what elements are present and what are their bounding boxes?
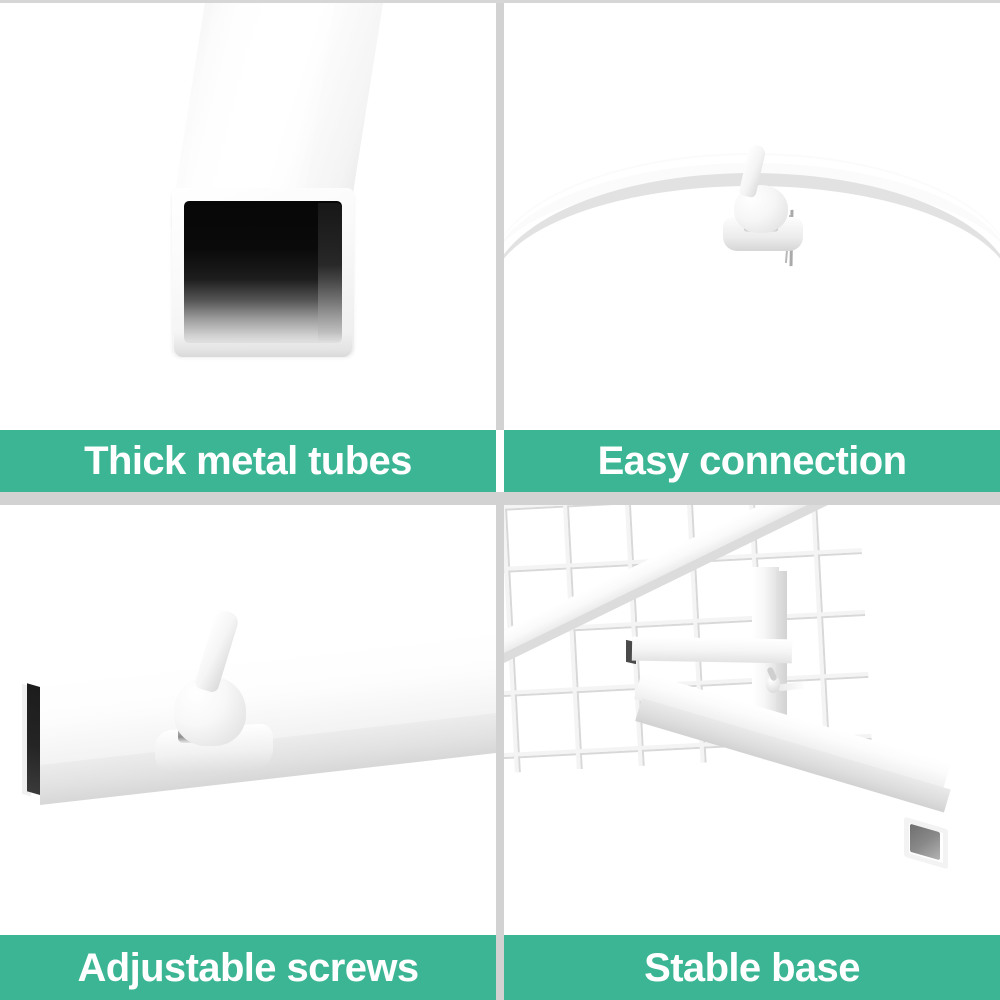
adjustable-screw-illustration <box>0 505 496 935</box>
caption-bar-adjustable-screws: Adjustable screws <box>0 935 496 1000</box>
top-border-line <box>0 0 1000 3</box>
base-bar-end-lip <box>904 817 948 870</box>
divider-vertical-top <box>496 3 504 430</box>
caption-label-easy-connection: Easy connection <box>598 441 907 481</box>
tube-head-shadow <box>174 333 352 357</box>
panel-easy-connection <box>504 3 1000 430</box>
cross-brace <box>632 637 792 664</box>
caption-label-stable-base: Stable base <box>644 948 860 988</box>
panel-thick-metal-tubes <box>0 3 496 430</box>
divider-vertical-bottom <box>496 492 504 1000</box>
feature-grid: Thick metal tubes Easy connection Adjust… <box>0 0 1000 1000</box>
panel-adjustable-screws <box>0 505 496 935</box>
metal-tube-illustration <box>0 3 496 430</box>
stable-base-illustration <box>504 505 1000 935</box>
caption-bar-stable-base: Stable base <box>504 935 1000 1000</box>
panel-stable-base <box>504 505 1000 935</box>
caption-bar-thick-metal-tubes: Thick metal tubes <box>0 430 496 492</box>
caption-bar-easy-connection: Easy connection <box>504 430 1000 492</box>
tube-inner-wall <box>318 203 342 341</box>
caption-label-adjustable-screws: Adjustable screws <box>77 948 418 988</box>
tube-connection-illustration <box>504 3 1000 430</box>
caption-label-thick-metal-tubes: Thick metal tubes <box>84 441 412 481</box>
